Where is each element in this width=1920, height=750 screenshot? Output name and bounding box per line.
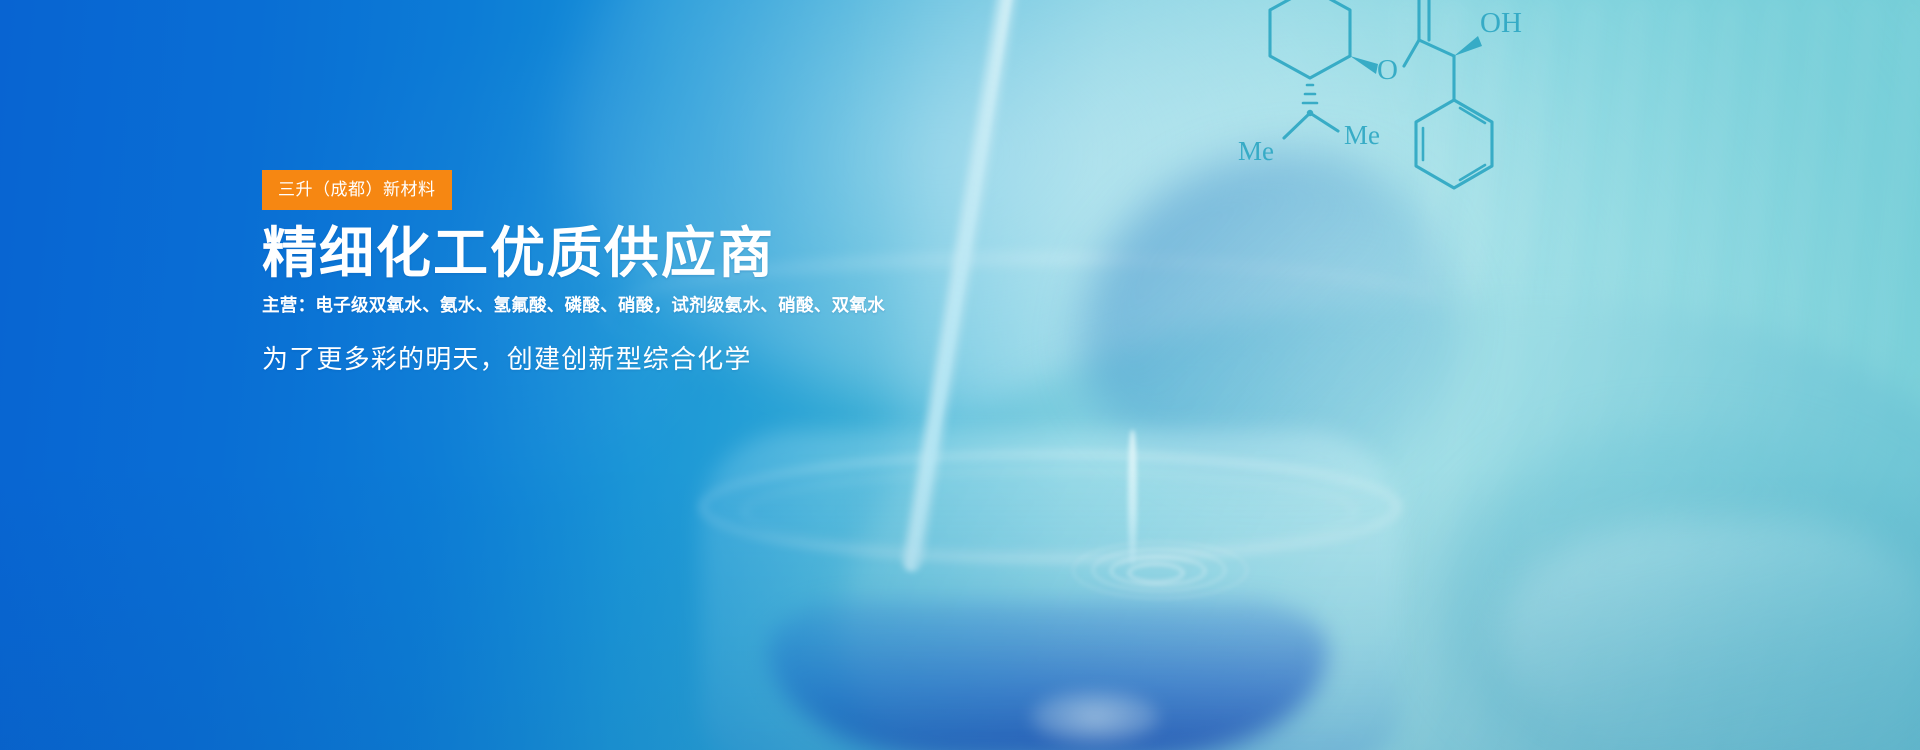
phenyl-aromatic-bonds [1423,108,1485,180]
ester-o-to-carbonyl-bond [1404,40,1419,66]
phenyl-ring [1416,100,1492,188]
cyclohexane-ring [1270,0,1350,78]
hydroxyl-wedge [1454,36,1482,56]
isopropyl-right-bond [1310,113,1338,131]
isopropyl-hashed-bond [1303,85,1317,103]
ester-oxygen-label: O [1377,54,1398,86]
methyl-lower-left-label: Me [1238,136,1274,166]
banner-tagline: 为了更多彩的明天，创建创新型综合化学 [262,343,1082,377]
isopropyl-left-bond [1284,113,1310,138]
banner-headline: 精细化工优质供应商 [262,224,1082,282]
banner-product-list: 主营：电子级双氧水、氨水、氢氟酸、磷酸、硝酸，试剂级氨水、硝酸、双氧水 [262,294,1082,317]
chemical-structure-icon: Me O Me Me O [1222,0,1542,198]
banner-copy: 三升（成都）新材料 精细化工优质供应商 主营：电子级双氧水、氨水、氢氟酸、磷酸、… [262,170,1082,377]
hero-banner: Me O Me Me O [0,0,1920,750]
methyl-lower-right-label: Me [1344,120,1380,150]
carbonyl-to-stereocenter-bond [1419,40,1454,56]
ester-oxygen-wedge [1350,56,1378,74]
company-badge: 三升（成都）新材料 [262,170,452,210]
hydroxyl-label: OH [1480,7,1522,39]
